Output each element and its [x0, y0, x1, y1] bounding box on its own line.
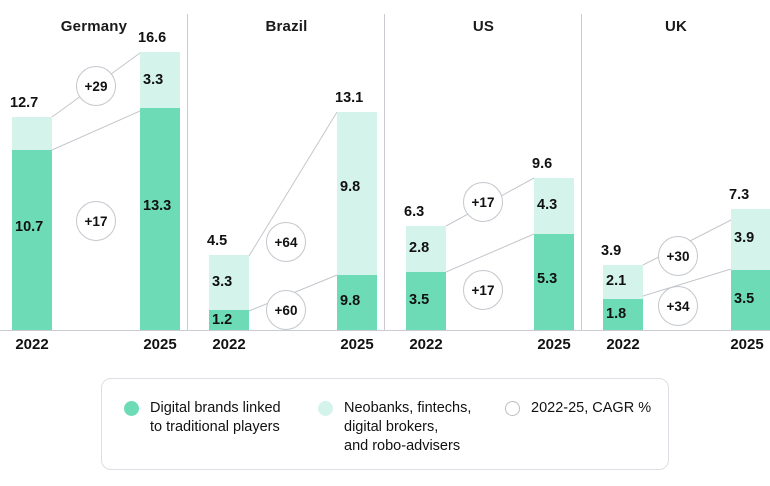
bar-total-label: 9.6	[532, 157, 552, 172]
bar-total-label: 3.9	[601, 244, 621, 259]
x-tick-2022: 2022	[398, 336, 454, 353]
panel-uk: UK 3.9 2.1 1.8 7.3 3.9 3.5 +30 +34 2022 …	[582, 0, 770, 362]
legend-item-cagr[interactable]: 2022-25, CAGR %	[505, 399, 651, 418]
cagr-bubble-total[interactable]: +17	[463, 182, 503, 222]
ring-dot-icon	[505, 401, 520, 416]
panel-title-us: US	[385, 18, 582, 35]
bar-segment-light: 4.3	[534, 178, 574, 234]
x-tick-2022: 2022	[201, 336, 257, 353]
dark-dot-icon	[124, 401, 139, 416]
bar-uk-2022[interactable]: 3.9 2.1 1.8	[603, 265, 643, 330]
chart-legend: Digital brands linked to traditional pla…	[101, 378, 669, 470]
bar-total-label: 6.3	[404, 205, 424, 220]
x-tick-2025: 2025	[329, 336, 385, 353]
bar-segment-light-label: 3.9	[734, 231, 754, 246]
x-tick-2025: 2025	[132, 336, 188, 353]
cagr-bubble-dark[interactable]: +17	[463, 270, 503, 310]
bar-segment-dark: 1.2	[209, 310, 249, 330]
panel-germany: Germany 12.7 10.7 16.6 3.3 13.3 +29 +17 …	[0, 0, 188, 362]
bar-segment-dark-label: 1.8	[606, 307, 626, 322]
bar-segment-light	[12, 117, 52, 150]
bar-segment-light: 9.8	[337, 112, 377, 275]
bar-segment-dark-label: 1.2	[212, 313, 232, 328]
bar-segment-dark: 13.3	[140, 108, 180, 330]
light-dot-icon	[318, 401, 333, 416]
legend-item-label: Digital brands linked to traditional pla…	[150, 399, 281, 437]
bar-segment-dark: 10.7	[12, 150, 52, 330]
bar-segment-light: 3.3	[140, 52, 180, 108]
bar-segment-light-label: 9.8	[340, 180, 360, 195]
bar-segment-light: 3.3	[209, 255, 249, 310]
x-tick-2022: 2022	[4, 336, 60, 353]
bar-germany-2025[interactable]: 16.6 3.3 13.3	[140, 52, 180, 330]
bar-brazil-2025[interactable]: 13.1 9.8 9.8	[337, 112, 377, 330]
legend-item-digital-brands[interactable]: Digital brands linked to traditional pla…	[124, 399, 281, 437]
bar-segment-dark-label: 5.3	[537, 272, 557, 287]
bar-brazil-2022[interactable]: 4.5 3.3 1.2	[209, 255, 249, 330]
cagr-bubble-dark[interactable]: +17	[76, 201, 116, 241]
cagr-bubble-total[interactable]: +29	[76, 66, 116, 106]
x-tick-2025: 2025	[719, 336, 770, 353]
bar-segment-dark: 9.8	[337, 275, 377, 330]
panel-us: US 6.3 2.8 3.5 9.6 4.3 5.3 +17 +17 2022 …	[385, 0, 582, 362]
panel-brazil: Brazil 4.5 3.3 1.2 13.1 9.8 9.8 +64 +60 …	[188, 0, 385, 362]
bar-germany-2022[interactable]: 12.7 10.7	[12, 117, 52, 330]
bar-total-label: 12.7	[10, 96, 38, 111]
bar-segment-light-label: 4.3	[537, 198, 557, 213]
bar-segment-dark: 5.3	[534, 234, 574, 330]
cagr-bubble-total[interactable]: +30	[658, 236, 698, 276]
bar-segment-light-label: 2.8	[409, 241, 429, 256]
bar-segment-light: 3.9	[731, 209, 770, 270]
bar-segment-light: 2.8	[406, 226, 446, 272]
bar-total-label: 4.5	[207, 234, 227, 249]
bar-segment-dark-label: 13.3	[143, 199, 171, 214]
cagr-bubble-dark[interactable]: +60	[266, 290, 306, 330]
bar-uk-2025[interactable]: 7.3 3.9 3.5	[731, 209, 770, 330]
bar-segment-light-label: 2.1	[606, 274, 626, 289]
bar-us-2022[interactable]: 6.3 2.8 3.5	[406, 226, 446, 330]
legend-item-label: 2022-25, CAGR %	[531, 399, 651, 418]
bar-us-2025[interactable]: 9.6 4.3 5.3	[534, 178, 574, 330]
x-tick-2022: 2022	[595, 336, 651, 353]
bar-segment-light-label: 3.3	[212, 275, 232, 290]
panel-title-brazil: Brazil	[188, 18, 385, 35]
bar-total-label: 13.1	[335, 91, 363, 106]
panel-title-uk: UK	[582, 18, 770, 35]
legend-item-label: Neobanks, fintechs, digital brokers, and…	[344, 399, 471, 456]
bar-total-label: 7.3	[729, 188, 749, 203]
bar-segment-dark-label: 3.5	[734, 292, 754, 307]
cagr-bubble-dark[interactable]: +34	[658, 286, 698, 326]
legend-item-neobanks[interactable]: Neobanks, fintechs, digital brokers, and…	[318, 399, 471, 456]
stacked-bar-chart: Germany 12.7 10.7 16.6 3.3 13.3 +29 +17 …	[0, 0, 770, 362]
bar-segment-dark: 1.8	[603, 299, 643, 330]
bar-segment-light-label: 3.3	[143, 73, 163, 88]
bar-total-label: 16.6	[138, 31, 166, 46]
bar-segment-dark-label: 9.8	[340, 294, 360, 309]
bar-segment-dark-label: 10.7	[15, 220, 43, 235]
bar-segment-dark: 3.5	[406, 272, 446, 330]
bar-segment-light: 2.1	[603, 265, 643, 299]
bar-segment-dark-label: 3.5	[409, 293, 429, 308]
x-tick-2025: 2025	[526, 336, 582, 353]
bar-segment-dark: 3.5	[731, 270, 770, 330]
cagr-bubble-total[interactable]: +64	[266, 222, 306, 262]
